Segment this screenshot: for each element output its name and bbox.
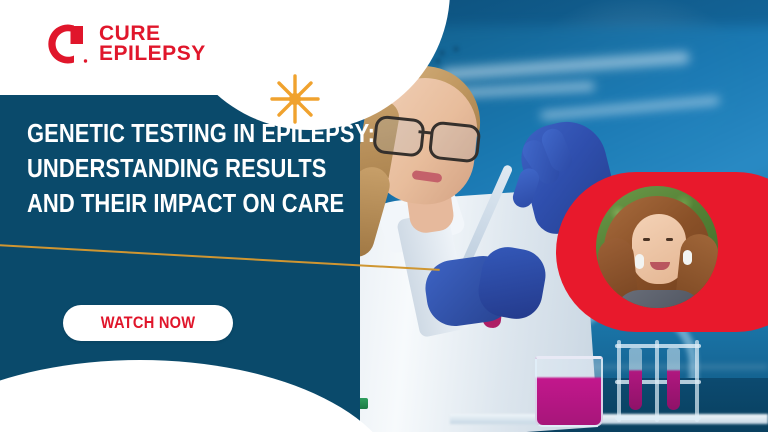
beaker-with-magenta-liquid: [535, 356, 603, 427]
watch-now-button[interactable]: WATCH NOW: [63, 305, 233, 341]
portrait-eye: [643, 238, 650, 241]
video-thumbnail-card: CURE EPILEPSY GENETIC TESTING IN EPILEPS…: [0, 0, 768, 432]
logo-text-cure: CURE: [99, 24, 206, 44]
bench-surface: [450, 414, 768, 424]
portrait-earring: [635, 254, 644, 269]
watch-now-label: WATCH NOW: [101, 313, 196, 333]
white-footer-band: [0, 404, 260, 432]
logo-text-epilepsy: EPILEPSY: [99, 44, 206, 64]
title-line-3: AND THEIR IMPACT ON CARE: [27, 187, 294, 222]
portrait-earring: [683, 250, 692, 265]
test-tube-rack: [615, 340, 701, 422]
portrait-eye: [666, 238, 673, 241]
portrait-shoulders: [614, 290, 704, 308]
title-line-2: UNDERSTANDING RESULTS: [27, 152, 294, 187]
speaker-portrait-avatar: [596, 186, 718, 308]
cure-epilepsy-logo[interactable]: CURE EPILEPSY: [44, 22, 206, 66]
cure-epilepsy-c-mark-icon: [44, 22, 90, 66]
page-title: GENETIC TESTING IN EPILEPSY: UNDERSTANDI…: [27, 117, 294, 223]
title-line-1: GENETIC TESTING IN EPILEPSY:: [27, 117, 294, 152]
